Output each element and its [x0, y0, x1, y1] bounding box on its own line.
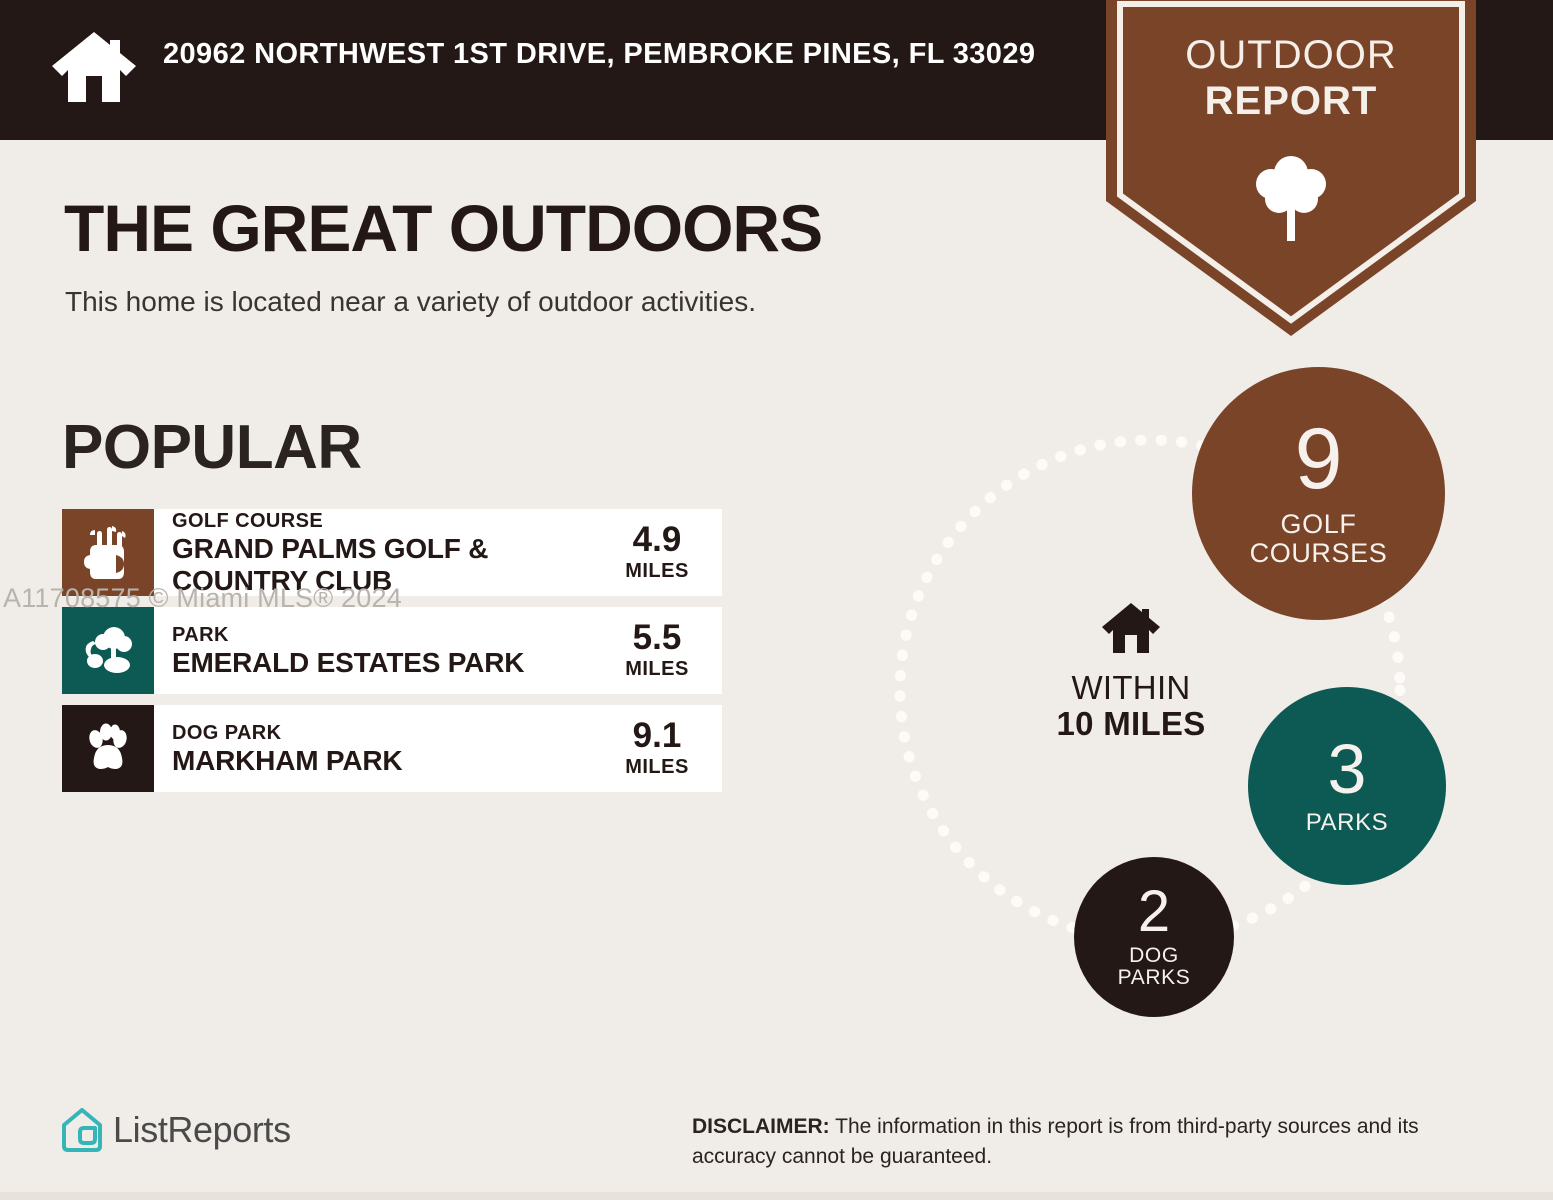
property-address: 20962 NORTHWEST 1ST DRIVE, PEMBROKE PINE… [163, 34, 1043, 75]
within-line1: WITHIN [1026, 670, 1236, 706]
listreports-logo[interactable]: ListReports [60, 1106, 291, 1154]
list-item-category: PARK [172, 623, 598, 647]
stat-label: GOLF COURSES [1250, 510, 1388, 568]
list-item-icon-tile [62, 705, 154, 792]
stat-label-line1: PARKS [1306, 809, 1389, 836]
badge-line2: REPORT [1106, 78, 1476, 124]
distance-unit: MILES [625, 560, 689, 583]
stat-count: 9 [1295, 419, 1343, 501]
list-item-distance: 9.1 MILES [598, 705, 722, 792]
list-item-category: GOLF COURSE [172, 509, 598, 533]
list-item-name: MARKHAM PARK [172, 745, 598, 776]
list-item-category: DOG PARK [172, 721, 598, 745]
house-icon [48, 26, 140, 106]
park-tree-icon [81, 625, 135, 677]
list-item[interactable]: DOG PARK MARKHAM PARK 9.1 MILES [62, 705, 722, 792]
outdoor-report-badge: OUTDOOR REPORT [1106, 0, 1476, 336]
list-item-name: EMERALD ESTATES PARK [172, 647, 598, 678]
disclaimer: DISCLAIMER: The information in this repo… [692, 1112, 1502, 1172]
stat-label: PARKS [1306, 810, 1389, 836]
badge-line1: OUTDOOR [1106, 32, 1476, 78]
popular-heading: POPULAR [62, 412, 362, 483]
stat-label: DOG PARKS [1118, 945, 1191, 990]
list-item-distance: 5.5 MILES [598, 607, 722, 694]
stat-label-line2: PARKS [1118, 966, 1191, 989]
popular-list: GOLF COURSE GRAND PALMS GOLF & COUNTRY C… [62, 509, 722, 803]
listreports-house-mark [60, 1106, 104, 1154]
distance-unit: MILES [625, 756, 689, 779]
listreports-wordmark: ListReports [113, 1109, 291, 1151]
bottom-divider [0, 1192, 1553, 1200]
house-icon [1100, 600, 1162, 656]
page-title: THE GREAT OUTDOORS [64, 190, 822, 266]
within-radius-label: WITHIN 10 MILES [1026, 600, 1236, 743]
distance-value: 4.9 [633, 522, 682, 557]
amenity-circle-cluster: WITHIN 10 MILES 9 GOLF COURSES 3 PARKS 2… [820, 355, 1500, 1035]
stat-circle-parks[interactable]: 3 PARKS [1248, 687, 1446, 885]
list-item-text: PARK EMERALD ESTATES PARK [154, 607, 598, 694]
stat-label-line1: DOG [1129, 944, 1179, 967]
distance-value: 9.1 [633, 718, 682, 753]
disclaimer-label: DISCLAIMER: [692, 1115, 830, 1138]
distance-value: 5.5 [633, 620, 682, 655]
within-line2: 10 MILES [1026, 706, 1236, 742]
list-item-text: DOG PARK MARKHAM PARK [154, 705, 598, 792]
tree-icon [1249, 151, 1333, 243]
list-item[interactable]: PARK EMERALD ESTATES PARK 5.5 MILES [62, 607, 722, 694]
stat-label-line2: COURSES [1250, 538, 1388, 568]
list-item-icon-tile [62, 607, 154, 694]
stat-count: 3 [1328, 736, 1367, 803]
golf-bag-icon [83, 525, 133, 581]
page-subtitle: This home is located near a variety of o… [65, 286, 756, 318]
stat-count: 2 [1138, 884, 1170, 939]
paw-icon [82, 723, 134, 775]
stat-label-line1: GOLF [1281, 509, 1357, 539]
list-item-distance: 4.9 MILES [598, 509, 722, 596]
stat-circle-dog-parks[interactable]: 2 DOG PARKS [1074, 857, 1234, 1017]
badge-title: OUTDOOR REPORT [1106, 32, 1476, 125]
mls-watermark: A11708575 © Miami MLS® 2024 [3, 583, 402, 614]
distance-unit: MILES [625, 658, 689, 681]
stat-circle-golf-courses[interactable]: 9 GOLF COURSES [1192, 367, 1445, 620]
